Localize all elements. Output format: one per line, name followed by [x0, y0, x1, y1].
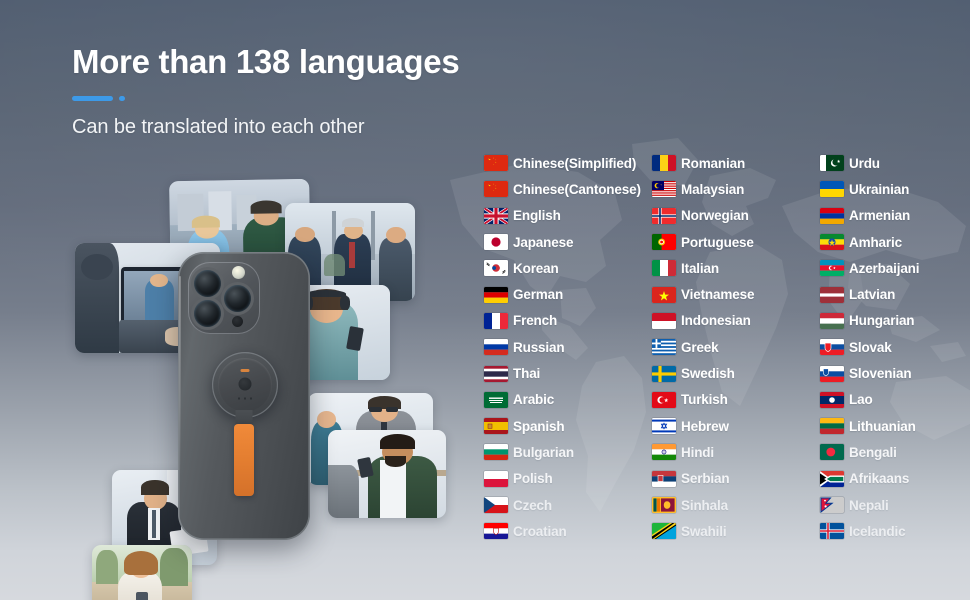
language-name: Russian	[513, 340, 564, 355]
flag-se-icon	[652, 366, 676, 382]
language-item: Lithuanian	[820, 413, 960, 439]
flag-jp-icon	[484, 234, 508, 250]
language-column-3: Urdu Ukrainian Armenian Amharic Azerbaij…	[820, 150, 960, 544]
flag-az-icon	[820, 260, 844, 276]
language-item: Malaysian	[652, 176, 817, 202]
language-name: Lithuanian	[849, 419, 916, 434]
language-item: English	[484, 203, 654, 229]
language-item: Bulgarian	[484, 439, 654, 465]
language-name: Romanian	[681, 156, 745, 171]
language-item: Lao	[820, 387, 960, 413]
language-item: Polish	[484, 466, 654, 492]
flag-my-icon	[652, 181, 676, 197]
flag-fr-icon	[484, 313, 508, 329]
flag-tz-icon	[652, 523, 676, 539]
flag-ua-icon	[820, 181, 844, 197]
language-item: Ukrainian	[820, 176, 960, 202]
language-name: Polish	[513, 471, 553, 486]
language-name: Croatian	[513, 524, 567, 539]
camera-lens-icon	[224, 285, 251, 312]
language-item: Afrikaans	[820, 466, 960, 492]
language-name: Czech	[513, 498, 552, 513]
language-name: Thai	[513, 366, 540, 381]
magsafe-translator-puck	[212, 352, 278, 418]
language-name: Chinese(Cantonese)	[513, 182, 641, 197]
language-column-1: Chinese(Simplified) Chinese(Cantonese) E…	[484, 150, 654, 544]
flag-la-icon	[820, 392, 844, 408]
collage-photo-man-speaking-into-phone	[328, 430, 446, 518]
language-name: French	[513, 313, 557, 328]
language-name: Hebrew	[681, 419, 729, 434]
language-name: Chinese(Simplified)	[513, 156, 636, 171]
language-item: Thai	[484, 360, 654, 386]
language-item: Arabic	[484, 387, 654, 413]
language-name: Japanese	[513, 235, 573, 250]
language-item: Romanian	[652, 150, 817, 176]
language-item: Italian	[652, 255, 817, 281]
language-name: Arabic	[513, 392, 554, 407]
flag-it-icon	[652, 260, 676, 276]
language-name: Norwegian	[681, 208, 749, 223]
language-item: French	[484, 308, 654, 334]
language-name: Latvian	[849, 287, 895, 302]
language-item: Swahili	[652, 518, 817, 544]
flag-ru-icon	[484, 339, 508, 355]
orange-finger-strap	[234, 424, 254, 496]
language-name: Bengali	[849, 445, 897, 460]
language-item: Indonesian	[652, 308, 817, 334]
language-item: Russian	[484, 334, 654, 360]
camera-island	[188, 262, 260, 334]
flag-de-icon	[484, 287, 508, 303]
flag-kr-icon	[484, 260, 508, 276]
language-name: Armenian	[849, 208, 910, 223]
language-item: Hungarian	[820, 308, 960, 334]
language-name: Amharic	[849, 235, 902, 250]
language-item: Slovenian	[820, 360, 960, 386]
language-item: Norwegian	[652, 203, 817, 229]
language-item: Spanish	[484, 413, 654, 439]
language-name: German	[513, 287, 563, 302]
flag-gr-icon	[652, 339, 676, 355]
language-name: Ukrainian	[849, 182, 909, 197]
flag-il-icon	[652, 418, 676, 434]
language-item: Croatian	[484, 518, 654, 544]
language-name: Korean	[513, 261, 559, 276]
flag-cn-icon	[484, 181, 508, 197]
microphone-icon	[239, 377, 252, 390]
language-name: Swahili	[681, 524, 726, 539]
flag-tr-icon	[652, 392, 676, 408]
language-name: Serbian	[681, 471, 729, 486]
accent-rule	[72, 96, 592, 102]
language-item: Bengali	[820, 439, 960, 465]
language-item: Amharic	[820, 229, 960, 255]
flag-lk-icon	[652, 497, 676, 513]
language-item: Urdu	[820, 150, 960, 176]
flag-rs-icon	[652, 471, 676, 487]
language-name: Swedish	[681, 366, 735, 381]
language-name: Indonesian	[681, 313, 751, 328]
language-name: Urdu	[849, 156, 880, 171]
language-name: Greek	[681, 340, 719, 355]
flag-no-icon	[652, 208, 676, 224]
language-item: Greek	[652, 334, 817, 360]
speaker-holes-icon	[237, 397, 253, 400]
flag-ro-icon	[652, 155, 676, 171]
language-item: Portuguese	[652, 229, 817, 255]
camera-lens-icon	[194, 270, 221, 297]
language-name: Icelandic	[849, 524, 905, 539]
flag-sk-icon	[820, 339, 844, 355]
language-item: Korean	[484, 255, 654, 281]
accent-dot	[119, 96, 125, 101]
language-name: Slovenian	[849, 366, 911, 381]
language-item: Slovak	[820, 334, 960, 360]
flag-pt-icon	[652, 234, 676, 250]
language-item: Turkish	[652, 387, 817, 413]
language-name: Hungarian	[849, 313, 914, 328]
flag-cz-icon	[484, 497, 508, 513]
language-name: Nepali	[849, 498, 889, 513]
language-item: Azerbaijani	[820, 255, 960, 281]
language-name: Afrikaans	[849, 471, 909, 486]
language-item: Armenian	[820, 203, 960, 229]
flag-th-icon	[484, 366, 508, 382]
language-name: Bulgarian	[513, 445, 574, 460]
flag-in-icon	[652, 444, 676, 460]
flag-lv-icon	[820, 287, 844, 303]
status-led-indicator	[241, 369, 250, 372]
flag-pl-icon	[484, 471, 508, 487]
language-item: Chinese(Cantonese)	[484, 176, 654, 202]
language-name: Vietnamese	[681, 287, 754, 302]
flag-za-icon	[820, 471, 844, 487]
language-name: Hindi	[681, 445, 714, 460]
flag-cn-icon	[484, 155, 508, 171]
collage-photo-woman-smiling-at-phone-outdoors	[92, 545, 192, 600]
flag-pk-icon	[820, 155, 844, 171]
headline-block: More than 138 languages Can be translate…	[72, 44, 592, 139]
language-item: German	[484, 281, 654, 307]
flag-am-icon	[820, 208, 844, 224]
language-item: Hebrew	[652, 413, 817, 439]
language-name: English	[513, 208, 561, 223]
flag-vn-icon	[652, 287, 676, 303]
language-name: Portuguese	[681, 235, 754, 250]
language-item: Czech	[484, 492, 654, 518]
flag-lt-icon	[820, 418, 844, 434]
language-promo-banner: More than 138 languages Can be translate…	[0, 0, 970, 600]
language-item: Sinhala	[652, 492, 817, 518]
language-item: Hindi	[652, 439, 817, 465]
lidar-sensor-icon	[232, 316, 243, 327]
language-item: Nepali	[820, 492, 960, 518]
product-iphone	[178, 252, 310, 540]
camera-flash-icon	[232, 266, 245, 279]
language-name: Lao	[849, 392, 873, 407]
language-column-2: Romanian Malaysian Norwegian Portuguese …	[652, 150, 817, 544]
language-name: Italian	[681, 261, 719, 276]
page-subtitle: Can be translated into each other	[72, 116, 592, 139]
language-item: Latvian	[820, 281, 960, 307]
flag-hu-icon	[820, 313, 844, 329]
flag-si-icon	[820, 366, 844, 382]
flag-bg-icon	[484, 444, 508, 460]
language-name: Azerbaijani	[849, 261, 919, 276]
language-item: Japanese	[484, 229, 654, 255]
camera-lens-icon	[194, 300, 221, 327]
flag-sa-icon	[484, 392, 508, 408]
language-item: Swedish	[652, 360, 817, 386]
language-item: Icelandic	[820, 518, 960, 544]
language-item: Serbian	[652, 466, 817, 492]
language-item: Vietnamese	[652, 281, 817, 307]
language-name: Spanish	[513, 419, 564, 434]
flag-hr-icon	[484, 523, 508, 539]
flag-is-icon	[820, 523, 844, 539]
flag-gb-icon	[484, 208, 508, 224]
language-name: Sinhala	[681, 498, 728, 513]
accent-bar	[72, 96, 113, 101]
language-name: Malaysian	[681, 182, 744, 197]
language-name: Turkish	[681, 392, 728, 407]
page-title: More than 138 languages	[72, 44, 592, 80]
flag-np-icon	[820, 497, 844, 513]
language-name: Slovak	[849, 340, 892, 355]
flag-bd-icon	[820, 444, 844, 460]
flag-es-icon	[484, 418, 508, 434]
language-item: Chinese(Simplified)	[484, 150, 654, 176]
flag-et-icon	[820, 234, 844, 250]
flag-id-icon	[652, 313, 676, 329]
